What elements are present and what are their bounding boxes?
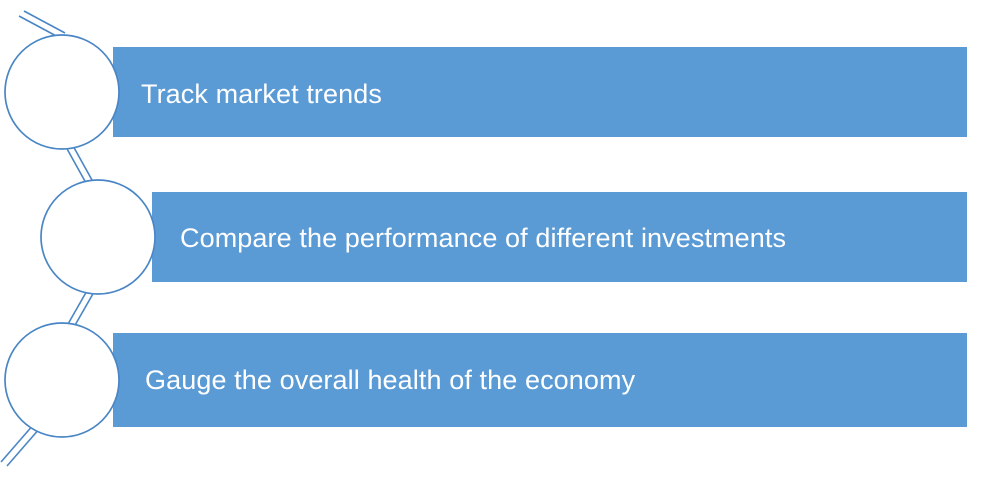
item-bullet-circle-1[interactable] — [5, 35, 119, 149]
smartart-diagram: Track market trends Compare the performa… — [0, 0, 982, 483]
item-label-2: Compare the performance of different inv… — [180, 225, 786, 252]
connector-2-to-3-icon — [68, 289, 94, 327]
connector-top-stub-icon — [19, 11, 65, 38]
item-label-1: Track market trends — [141, 81, 382, 108]
item-bullet-circle-2[interactable] — [41, 180, 155, 294]
item-label-3: Gauge the overall health of the economy — [145, 367, 635, 394]
item-bullet-circle-3[interactable] — [5, 323, 119, 437]
connector-1-to-2-icon — [66, 144, 92, 183]
